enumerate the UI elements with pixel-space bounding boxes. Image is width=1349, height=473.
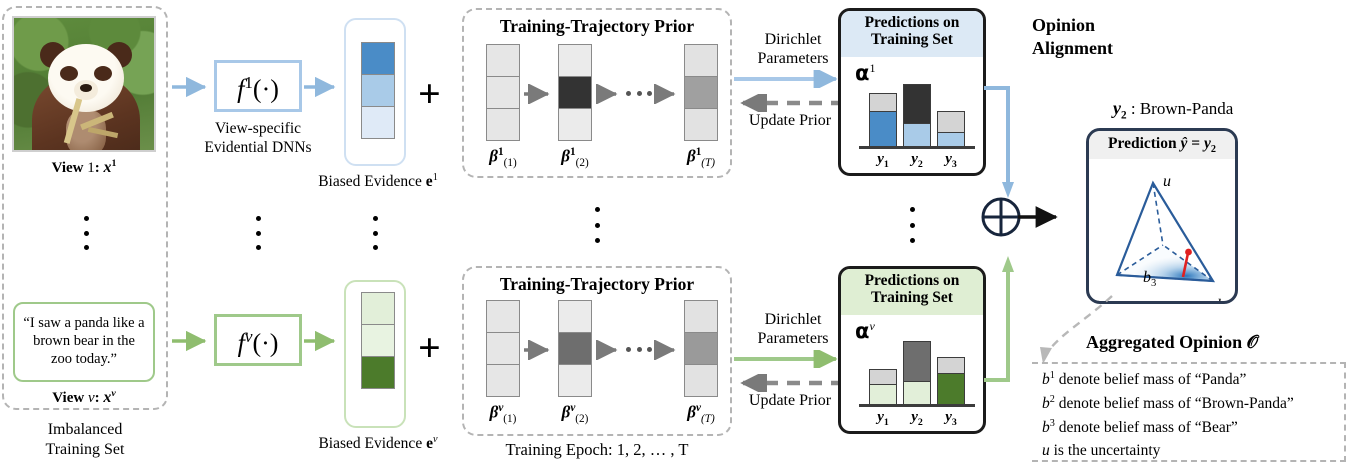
prior-cell [558,76,592,109]
evidence-cell-class1 [361,292,395,325]
connector-view1-to-combine [980,66,1040,216]
prior-cell [558,332,592,365]
encoders-ellipsis [255,216,261,250]
prior-bottom-beta2 [558,300,592,400]
evidence-view1-caption: Biased Evidence e1 [300,172,456,191]
evidence-viewv-column [361,292,395,392]
figure-canvas: View 1: x1 “I saw a panda like a brown b… [0,0,1349,473]
plus-top: + [418,74,441,114]
arrow-dirichlet-bottom [732,350,852,368]
prior-ellipsis-bottom [626,346,652,352]
evidence-view1-column [361,42,395,142]
arrow-prior-1-2-top [524,84,556,104]
encoder-caption-line2: Evidential DNNs [192,139,324,158]
viewv-text-box: “I saw a panda like a brown bear in the … [13,302,155,382]
dirichlet-parameters-label-bottom: Dirichlet Parameters [736,310,850,348]
opinion-alignment-line2: Alignment [1032,37,1192,60]
training-set-caption-line2: Training Set [6,440,164,460]
prior-top-label-T: β1(T) [676,146,726,169]
simplex-label-b2: b2 [1217,297,1230,304]
bar-y1-evidence [869,384,897,405]
arrow-combine-to-prediction [1018,206,1074,230]
evidence-viewv-caption: Biased Evidence ev [300,434,456,453]
xtick-y2-viewv: y2 [899,409,935,428]
prior-top-beta2 [558,44,592,144]
prior-top-betaT [684,44,718,144]
prior-cell [558,44,592,77]
predictions-header-line2: Training Set [841,289,983,306]
evidence-cell-class3 [361,106,395,139]
dirichlet-line2: Parameters [736,329,850,348]
xtick-y3-view1: y3 [933,151,969,170]
combine-operator [980,196,1022,238]
xtick-y1-viewv: y1 [865,409,901,428]
evidence-cell-class1 [361,42,395,75]
prior-cell [684,364,718,397]
legend-item-b3: b3 denote belief mass of “Bear” [1042,416,1342,440]
arrow-update-prior-top [732,94,852,112]
dirichlet-line1: Dirichlet [736,30,850,49]
xtick-y1-view1: y1 [865,151,901,170]
alpha-label-view1: α1 [855,61,875,86]
prediction-simplex-panel: Prediction ŷ = y2 u b [1086,128,1238,304]
prior-top-label-1: β1(1) [478,146,528,169]
prior-cell [684,108,718,141]
prior-cell [486,76,520,109]
bar-y3-uncertainty [937,357,965,374]
prior-ellipsis-top [626,90,652,96]
prior-cell [486,300,520,333]
prior-top-beta1 [486,44,520,144]
evidence-cell-class2 [361,74,395,107]
prior-cell [486,44,520,77]
training-epoch-caption: Training Epoch: 1, 2, … , T [462,440,732,460]
arrow-prior-dots-T-top [654,84,682,104]
predictions-panel-view1: Predictions on Training Set α1 y1 y2 y3 [838,8,986,176]
evidence-cell-class2 [361,324,395,357]
arrow-dirichlet-top [732,70,852,88]
evidence-cell-class3 [361,356,395,389]
prior-cell [486,108,520,141]
legend-lines: b1 denote belief mass of “Panda” b2 deno… [1042,368,1342,463]
arrow-view1-to-encoder [172,76,214,98]
dirichlet-parameters-label-top: Dirichlet Parameters [736,30,850,68]
bar-y3-uncertainty [937,111,965,133]
prior-top-label-2: β1(2) [550,146,600,169]
update-prior-label-top: Update Prior [730,112,850,130]
training-set-caption: Imbalanced Training Set [6,420,164,459]
arrow-prior-2-dots-bottom [596,340,624,360]
arrow-prior-1-2-bottom [524,340,556,360]
prior-bottom-betaT [684,300,718,400]
view1-label: View 1: x1 [12,158,156,177]
predictions-header-line1: Predictions on [841,14,983,31]
encoder-view1: f1(·) [214,60,302,112]
viewv-label: View v: xv [12,388,156,407]
dirichlet-line2: Parameters [736,49,850,68]
encoder-caption-line1: View-specific [192,120,324,139]
prior-cell [684,300,718,333]
prior-title-top: Training-Trajectory Prior [462,16,732,37]
aggregated-opinion-title: Aggregated Opinion 𝒪 [1086,332,1258,353]
prior-bottom-label-T: βv(T) [676,402,726,425]
dirichlet-line1: Dirichlet [736,310,850,329]
legend-item-b1: b1 denote belief mass of “Panda” [1042,368,1342,392]
prior-cell [486,332,520,365]
evidence-ellipsis [372,216,378,250]
simplex-label-b3: b3 [1143,269,1156,289]
bar-y1-uncertainty [869,369,897,385]
bar-y3-evidence [937,132,965,147]
predictions-header-view1: Predictions on Training Set [841,11,983,57]
bar-y1-uncertainty [869,93,897,112]
prior-cell [684,44,718,77]
prior-cell [486,364,520,397]
plus-bottom: + [418,328,441,368]
bar-y1-evidence [869,111,897,147]
flow-rows-ellipsis [909,207,915,243]
legend-item-b2: b2 denote belief mass of “Brown-Panda” [1042,392,1342,416]
prior-cell [684,332,718,365]
opinion-alignment-title: Opinion Alignment [1032,14,1192,59]
alpha-label-viewv: αv [855,319,875,344]
prior-bottom-beta1 [486,300,520,400]
prior-title-bottom: Training-Trajectory Prior [462,274,732,295]
arrow-prior-dots-T-bottom [654,340,682,360]
legend-item-u: u is the uncertainty [1042,440,1342,463]
arrow-update-prior-bottom [732,374,852,392]
update-prior-label-bottom: Update Prior [730,392,850,410]
predictions-header-viewv: Predictions on Training Set [841,269,983,315]
arrow-encoder1-to-evidence [304,76,344,98]
bar-y2-uncertainty [903,341,931,382]
training-set-caption-line1: Imbalanced [6,420,164,440]
view1-image [12,16,156,152]
prior-cell [558,300,592,333]
bar-y2-evidence [903,381,931,405]
bar-y2-evidence [903,123,931,147]
predictions-header-line1: Predictions on [841,272,983,289]
arrow-prior-2-dots-top [596,84,624,104]
opinion-alignment-line1: Opinion [1032,14,1192,37]
y2-class-label: y2 : Brown-Panda [1113,98,1233,121]
arrow-encoderv-to-evidence [304,330,344,352]
prior-rows-ellipsis [594,207,600,243]
prior-cell [558,108,592,141]
encoder-viewv: fv(·) [214,314,302,366]
xtick-y2-view1: y2 [899,151,935,170]
prior-bottom-label-1: βv(1) [478,402,528,425]
views-ellipsis [83,216,89,250]
predictions-panel-viewv: Predictions on Training Set αv y1 y2 y3 [838,266,986,434]
arrow-viewv-to-encoder [172,330,214,352]
bar-y2-uncertainty [903,84,931,124]
prior-cell [684,76,718,109]
xtick-y3-viewv: y3 [933,409,969,428]
viewv-text: “I saw a panda like a brown bear in the … [21,315,147,368]
aggregated-opinion-text: Aggregated Opinion 𝒪 [1086,332,1258,352]
prediction-header: Prediction ŷ = y2 [1089,131,1235,159]
simplex-label-u: u [1163,173,1171,191]
encoder-caption: View-specific Evidential DNNs [192,120,324,157]
bar-y3-evidence [937,373,965,405]
prior-bottom-label-2: βv(2) [550,402,600,425]
prior-cell [558,364,592,397]
predictions-header-line2: Training Set [841,31,983,48]
